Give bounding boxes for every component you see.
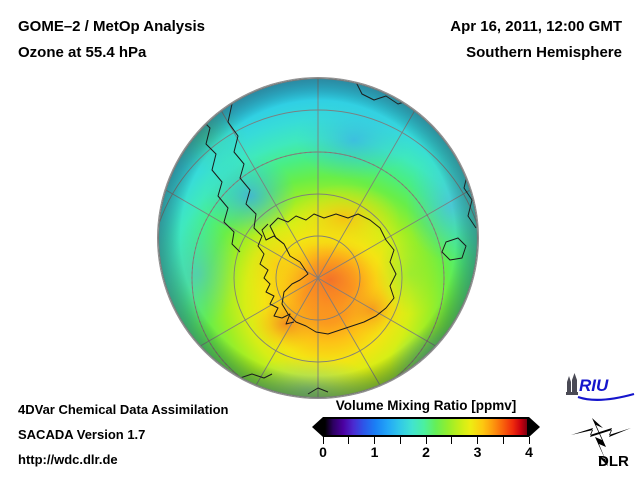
footer-line-method: 4DVar Chemical Data Assimilation: [18, 402, 229, 417]
colorbar-tick-label: 0: [319, 444, 327, 460]
colorbar-over-arrow-icon: [529, 417, 540, 437]
colorbar-tick: [323, 437, 324, 444]
dlr-logo: DLR: [568, 414, 636, 470]
colorbar-tick-labels: 01234: [323, 444, 529, 462]
colorbar-tick: [348, 437, 349, 444]
colorbar-gradient: [325, 419, 527, 435]
dlr-logo-svg: DLR: [568, 414, 636, 470]
ozone-globe-map: [158, 78, 478, 398]
colorbar-tick: [374, 437, 375, 444]
analysis-region: Southern Hemisphere: [466, 44, 622, 61]
footer-line-url: http://wdc.dlr.de: [18, 452, 118, 467]
riu-towers-icon: [566, 373, 578, 395]
ozone-field-layer: [158, 78, 478, 398]
riu-logo-text: RIU: [579, 376, 609, 395]
riu-logo-svg: RIU: [562, 372, 636, 402]
colorbar-tick: [400, 437, 401, 444]
analysis-subtitle: Ozone at 55.4 hPa: [18, 44, 146, 61]
dlr-logo-text: DLR: [598, 453, 629, 470]
colorbar-tick-label: 4: [525, 444, 533, 460]
colorbar-tick: [477, 437, 478, 444]
colorbar-tick: [426, 437, 427, 444]
colorbar-tick: [529, 437, 530, 444]
colorbar-row: [312, 417, 540, 437]
colorbar-tick: [451, 437, 452, 444]
colorbar-title: Volume Mixing Ratio [ppmv]: [312, 398, 540, 413]
globe-disc: [158, 78, 478, 398]
globe-svg: [158, 78, 478, 398]
colorbar-tick-label: 3: [474, 444, 482, 460]
analysis-datetime: Apr 16, 2011, 12:00 GMT: [450, 18, 622, 35]
colorbar-ticks: [323, 437, 529, 444]
colorbar-gradient-bar: [323, 417, 529, 437]
colorbar-tick-label: 1: [371, 444, 379, 460]
colorbar-tick: [503, 437, 504, 444]
colorbar: Volume Mixing Ratio [ppmv] 01234: [312, 398, 540, 462]
riu-logo: RIU: [562, 372, 636, 402]
footer-line-version: SACADA Version 1.7: [18, 427, 145, 442]
colorbar-tick-label: 2: [422, 444, 430, 460]
colorbar-under-arrow-icon: [312, 417, 323, 437]
analysis-title: GOME–2 / MetOp Analysis: [18, 18, 205, 35]
